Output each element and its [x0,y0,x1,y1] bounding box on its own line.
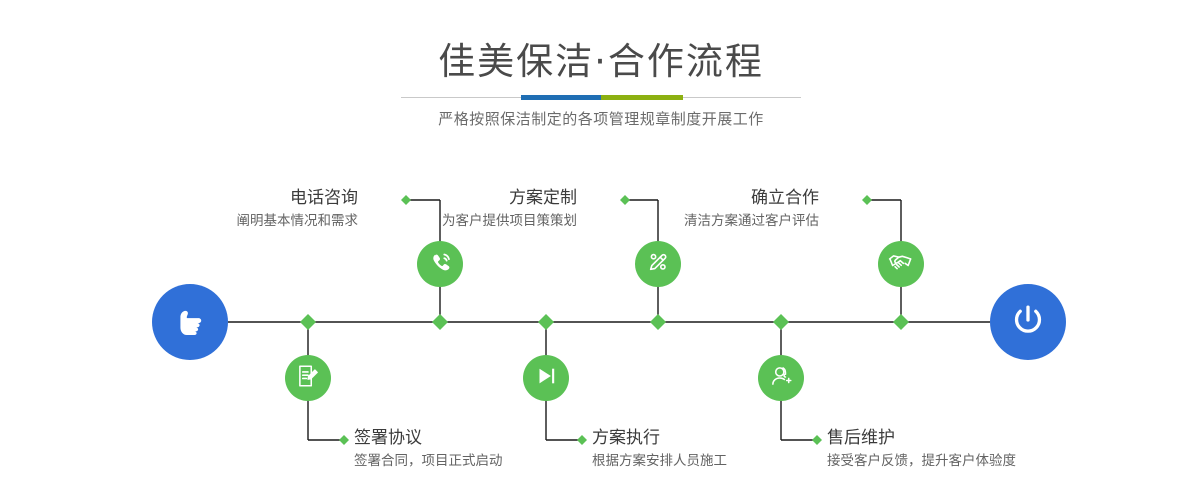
step-label-2: 电话咨询 阐明基本情况和需求 [237,186,359,232]
power-icon [1006,298,1050,346]
step-label-6: 确立合作 清洁方案通过客户评估 [684,186,819,232]
label-diamond-1 [339,435,349,445]
phone-call-icon [427,249,454,280]
axis-diamond-2 [432,314,448,330]
flow-start-node[interactable] [152,284,228,360]
label-diamond-markers [339,195,872,445]
axis-diamond-4 [650,314,666,330]
step-desc-3: 根据方案安排人员施工 [592,450,727,472]
step-desc-6: 清洁方案通过客户评估 [684,210,819,232]
step-label-1: 签署协议 签署合同，项目正式启动 [354,426,503,472]
customer-service-icon [768,363,794,393]
step-node-2[interactable] [417,241,463,287]
process-flow-diagram: 电话咨询 阐明基本情况和需求 方案定制 为客户提供项目策策划 确立合作 清洁方案… [0,0,1202,502]
step-node-3[interactable] [523,355,569,401]
handshake-icon [887,248,915,280]
label-diamond-2 [401,195,411,205]
label-diamond-5 [812,435,822,445]
step-node-4[interactable] [635,241,681,287]
step-desc-5: 接受客户反馈，提升客户体验度 [827,450,1016,472]
axis-diamond-6 [893,314,909,330]
step-title-5: 售后维护 [827,426,1016,450]
axis-diamond-5 [773,314,789,330]
axis-diamond-1 [300,314,316,330]
pencil-plan-icon [645,249,671,279]
step-node-6[interactable] [878,241,924,287]
step-label-3: 方案执行 根据方案安排人员施工 [592,426,727,472]
pointing-hand-icon [167,297,213,347]
label-diamond-4 [620,195,630,205]
step-title-3: 方案执行 [592,426,727,450]
step-node-1[interactable] [285,355,331,401]
step-desc-4: 为客户提供项目策策划 [442,210,577,232]
label-diamond-3 [577,435,587,445]
step-label-4: 方案定制 为客户提供项目策策划 [442,186,577,232]
step-desc-1: 签署合同，项目正式启动 [354,450,503,472]
step-node-5[interactable] [758,355,804,401]
step-title-6: 确立合作 [684,186,819,210]
step-title-1: 签署协议 [354,426,503,450]
step-desc-2: 阐明基本情况和需求 [237,210,359,232]
step-title-2: 电话咨询 [237,186,359,210]
axis-diamond-3 [538,314,554,330]
play-execute-icon [533,363,559,393]
flow-end-node[interactable] [990,284,1066,360]
label-diamond-6 [862,195,872,205]
step-label-5: 售后维护 接受客户反馈，提升客户体验度 [827,426,1016,472]
sign-document-icon [295,363,321,393]
step-title-4: 方案定制 [442,186,577,210]
